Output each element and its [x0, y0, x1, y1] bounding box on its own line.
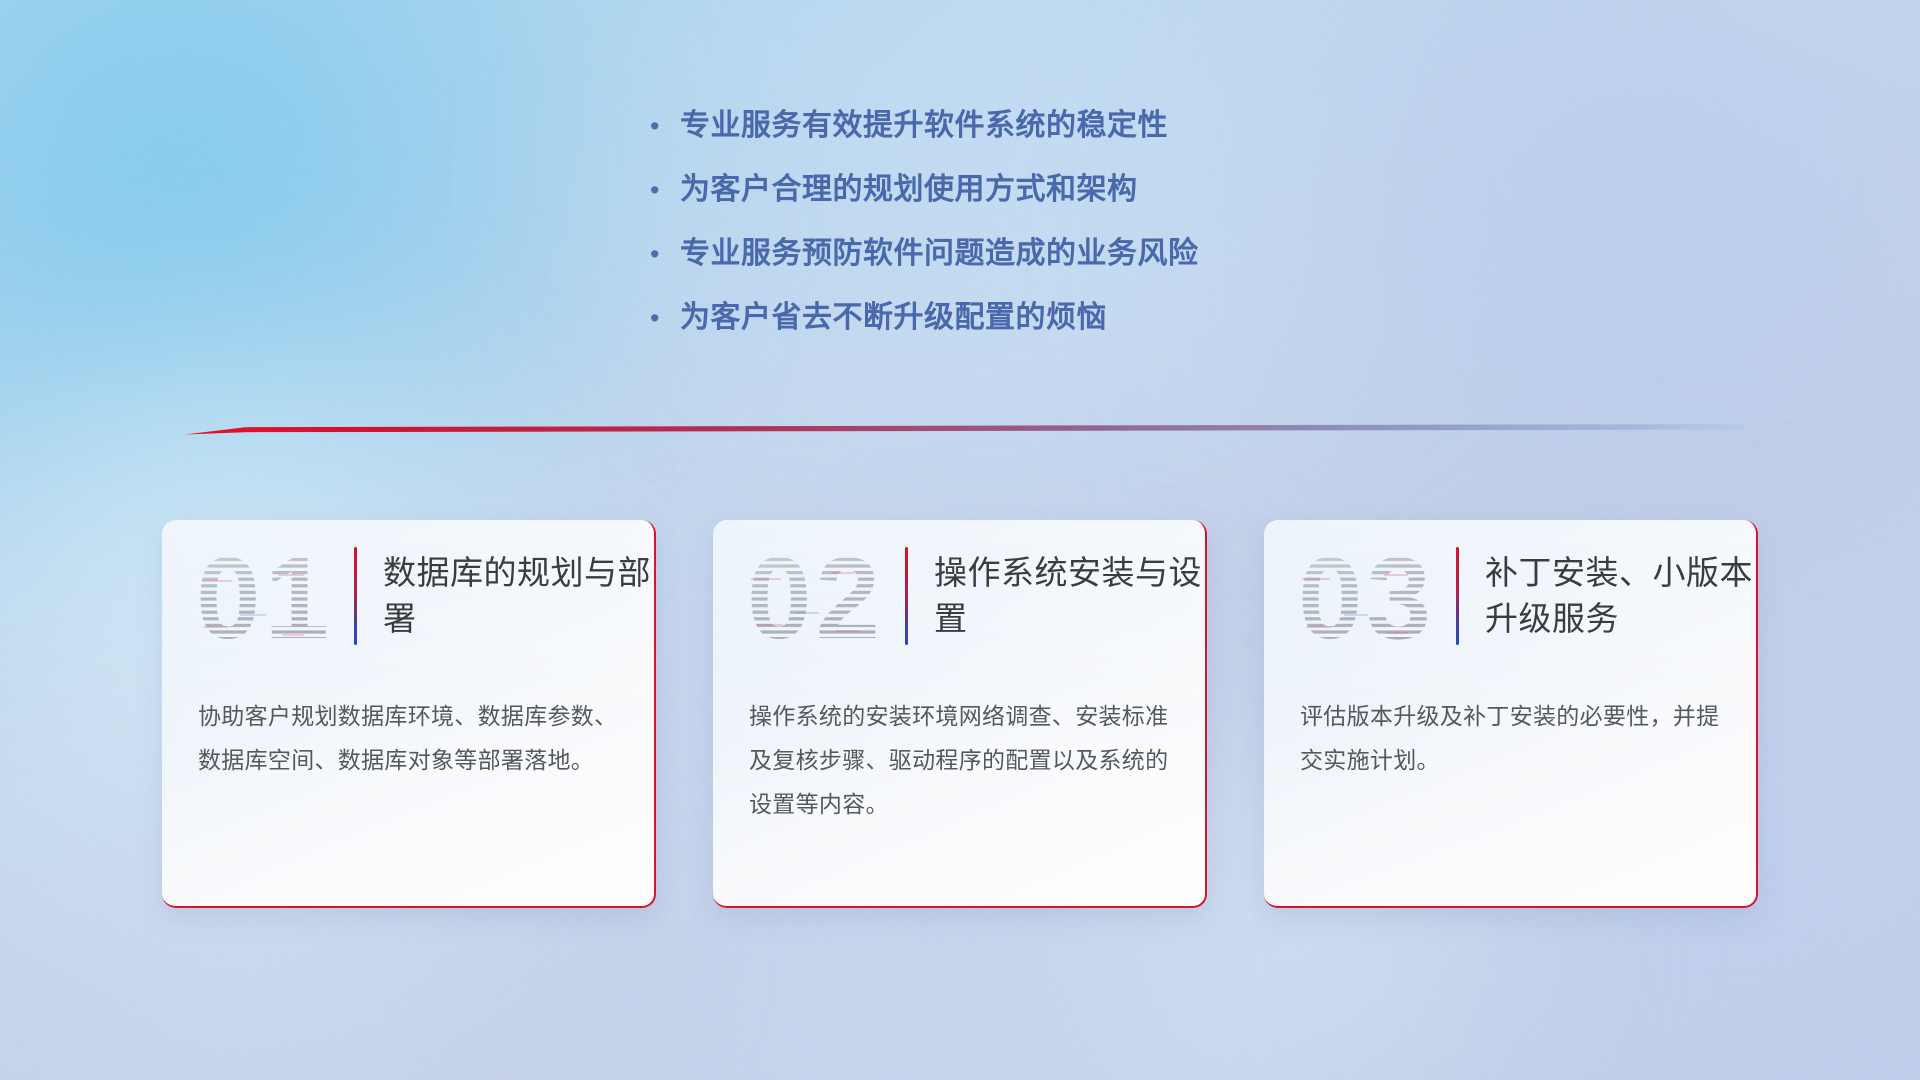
card-accent-bar — [1456, 547, 1459, 645]
bullet-marker-icon: • — [650, 104, 680, 148]
svg-text:01: 01 — [196, 538, 333, 660]
card-description: 协助客户规划数据库环境、数据库参数、数据库空间、数据库对象等部署落地。 — [162, 672, 654, 782]
section-divider — [185, 420, 1745, 436]
bullet-marker-icon: • — [650, 168, 680, 212]
list-item: • 专业服务预防软件问题造成的业务风险 — [650, 232, 1199, 296]
striped-number-02-icon: 02 — [745, 538, 895, 660]
striped-number-01-icon: 01 — [194, 538, 344, 660]
benefits-bullet-list: • 专业服务有效提升软件系统的稳定性 • 为客户合理的规划使用方式和架构 • 专… — [650, 104, 1199, 360]
list-item: • 为客户省去不断升级配置的烦恼 — [650, 296, 1199, 360]
service-cards-row: 01 数据库的规划与部署 协助客户规划数据库环境、数据库参数、数据库空间、数据库… — [0, 520, 1920, 920]
bullet-marker-icon: • — [650, 232, 680, 276]
list-item: • 为客户合理的规划使用方式和架构 — [650, 168, 1199, 232]
service-card-02[interactable]: 02 操作系统安装与设置 操作系统的安装环境网络调查、安装标准及复核步骤、驱动程… — [713, 520, 1207, 908]
bullet-text: 为客户省去不断升级配置的烦恼 — [680, 296, 1107, 340]
svg-text:02: 02 — [747, 538, 884, 660]
card-accent-bar — [905, 547, 908, 645]
card-description: 评估版本升级及补丁安装的必要性，并提交实施计划。 — [1264, 672, 1756, 782]
card-description: 操作系统的安装环境网络调查、安装标准及复核步骤、驱动程序的配置以及系统的设置等内… — [713, 672, 1205, 826]
card-title: 数据库的规划与部署 — [383, 550, 654, 642]
list-item: • 专业服务有效提升软件系统的稳定性 — [650, 104, 1199, 168]
bullet-text: 专业服务预防软件问题造成的业务风险 — [680, 232, 1199, 276]
card-header: 02 操作系统安装与设置 — [713, 520, 1205, 672]
card-title: 操作系统安装与设置 — [934, 550, 1205, 642]
svg-text:03: 03 — [1298, 538, 1435, 660]
card-title: 补丁安装、小版本升级服务 — [1485, 550, 1756, 642]
striped-number-03-icon: 03 — [1296, 538, 1446, 660]
service-card-01[interactable]: 01 数据库的规划与部署 协助客户规划数据库环境、数据库参数、数据库空间、数据库… — [162, 520, 656, 908]
card-header: 03 补丁安装、小版本升级服务 — [1264, 520, 1756, 672]
card-header: 01 数据库的规划与部署 — [162, 520, 654, 672]
service-card-03[interactable]: 03 补丁安装、小版本升级服务 评估版本升级及补丁安装的必要性，并提交实施计划。 — [1264, 520, 1758, 908]
bullet-text: 为客户合理的规划使用方式和架构 — [680, 168, 1138, 212]
card-accent-bar — [354, 547, 357, 645]
bullet-marker-icon: • — [650, 296, 680, 340]
bullet-text: 专业服务有效提升软件系统的稳定性 — [680, 104, 1168, 148]
